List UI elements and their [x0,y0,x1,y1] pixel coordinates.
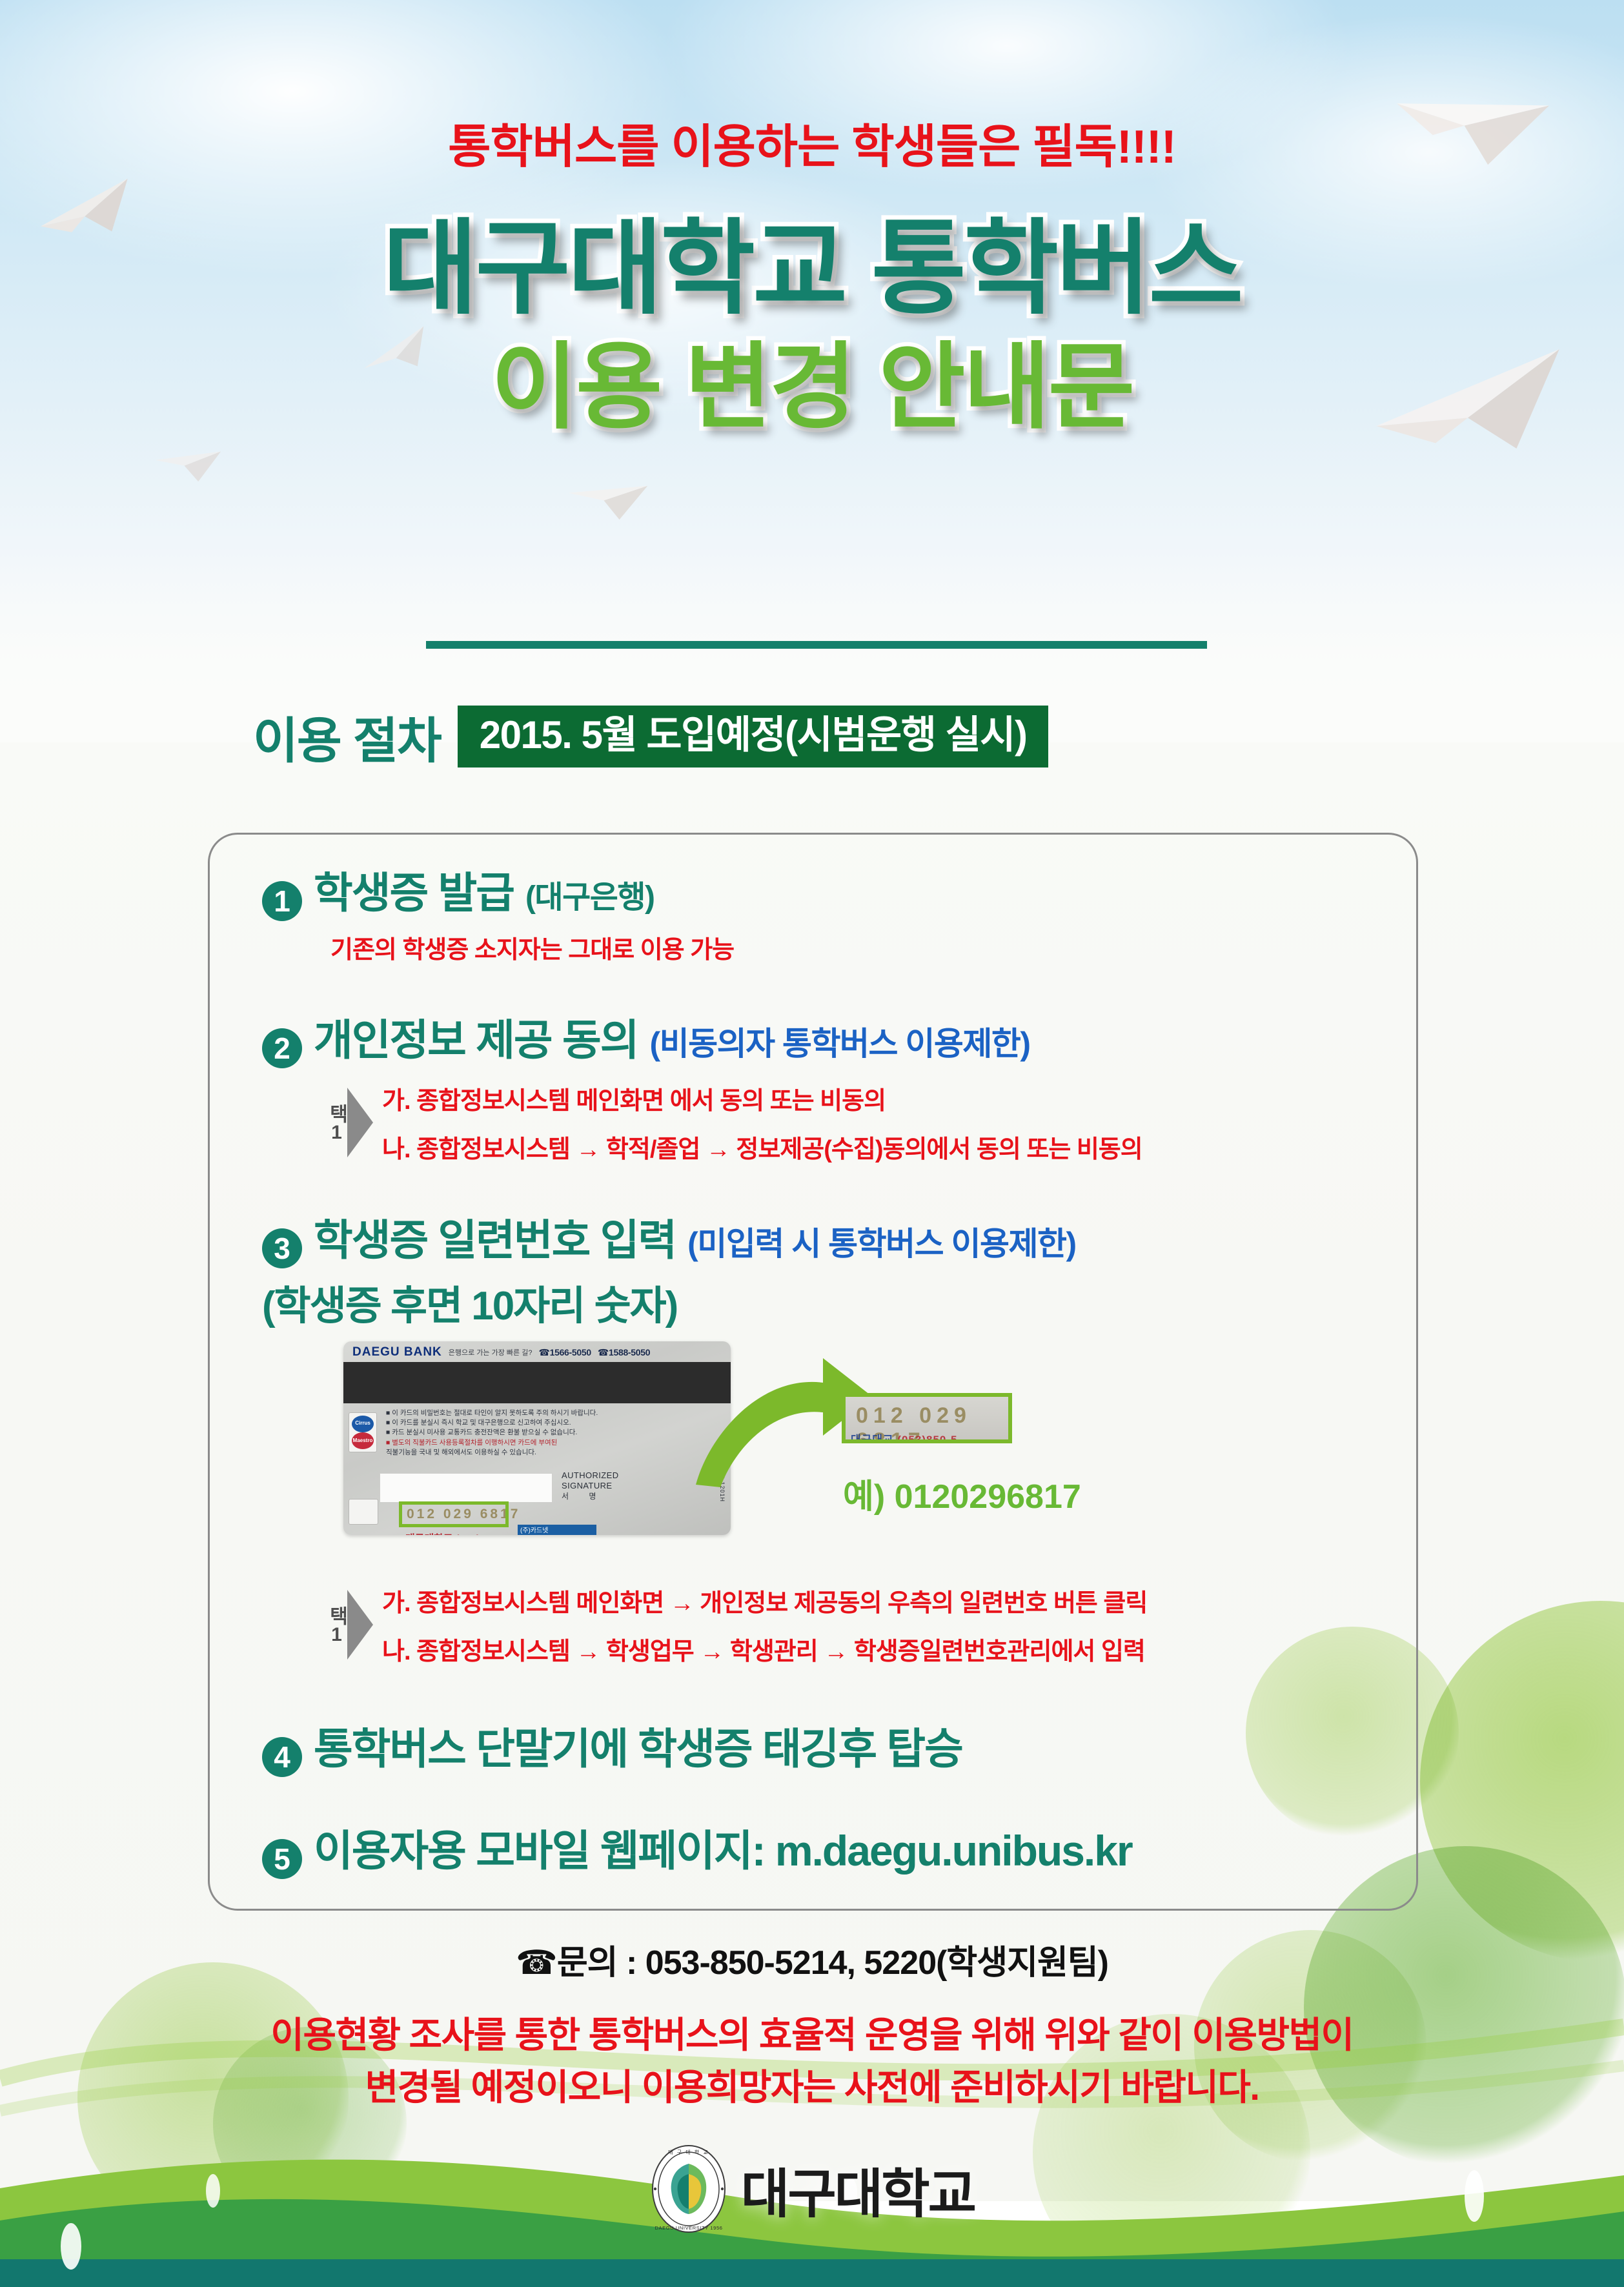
step-2-choose-one: 택1 가. 종합정보시스템 메인화면 에서 동의 또는 비동의 나. 종합정보시… [327,1081,1142,1164]
paper-plane-icon [153,442,221,485]
step-1-title: 학생증 발급 [314,859,514,920]
contact-line: ☎문의 : 053-850-5214, 5220(학생지원팀) [0,1935,1624,1984]
section-header: 이용 절차 2015. 5월 도입예정(시범운행 실시) [253,701,1048,772]
step-4: 4 통학버스 단말기에 학생증 태깅후 탑승 [262,1714,962,1776]
authorized-label: AUTHORIZED [562,1470,619,1481]
card-tel-2: ☎1588-5050 [598,1347,650,1358]
section-schedule-badge: 2015. 5월 도입예정(시범운행 실시) [458,706,1049,767]
cirrus-maestro-logo-icon: Cirrus Maestro [349,1412,377,1452]
step-3-option-a: 가. 종합정보시스템 메인화면 → 개인정보 제공동의 우측의 일련번호 버튼 … [382,1583,1147,1618]
magnetic-stripe [343,1362,731,1403]
step-3-title: 학생증 일련번호 입력 [314,1206,676,1268]
step-5-title: 이용자용 모바일 웹페이지: m.daegu.unibus.kr [314,1816,1132,1878]
step-number-circle: 5 [262,1839,302,1879]
step-1: 1 학생증 발급 (대구은행) 기존의 학생증 소지자는 그대로 이용 가능 [262,859,734,965]
choose-one-marker: 택1 [327,1590,373,1660]
choose-one-marker: 택1 [327,1088,373,1157]
choose-one-label: 택1 [327,1104,346,1142]
card-tel-1: ☎1566-5050 [538,1347,591,1358]
title-divider [426,641,1207,649]
serial-example-text: 예) 0120296817 [843,1469,1081,1518]
triangle-right-icon [347,1088,373,1157]
step-number-circle: 2 [262,1028,302,1068]
university-logo-row: 대 구 대 학 교 DAEGU UNIVERSITY 1956 대구대학교 [0,2143,1624,2235]
poster-title: 대구대학교 통학버스 이용 변경 안내문 [0,213,1624,438]
kardnet-name: (주)카드넷 [520,1527,548,1534]
signature-label: SIGNATURE [562,1481,619,1491]
step-3-subtitle: (학생증 후면 10자리 숫자) [262,1273,1076,1331]
maestro-label: Maestro [352,1438,374,1443]
step-2-options: 가. 종합정보시스템 메인화면 에서 동의 또는 비동의 나. 종합정보시스템 … [382,1081,1142,1164]
serial-highlight-box [399,1501,509,1527]
step-3-option-b: 나. 종합정보시스템 → 학생업무 → 학생관리 → 학생증일련번호관리에서 입… [382,1631,1147,1667]
callout-subtext-right: (053)850-5 [897,1434,957,1443]
notice-line-1: 이용현황 조사를 통한 통학버스의 효율적 운영을 위해 위와 같이 이용방법이 [0,2009,1624,2061]
step-2-heading: 2 개인정보 제공 동의 (비동의자 통학버스 이용제한) [262,1006,1142,1068]
authorized-signature-text: AUTHORIZED SIGNATURE 서 명 [562,1470,619,1501]
step-4-heading: 4 통학버스 단말기에 학생증 태깅후 탑승 [262,1714,962,1776]
student-card-figure: DAEGU BANK 은행으로 가는 가장 빠른 길? ☎1566-5050 ☎… [343,1341,731,1535]
card-body: Cirrus Maestro ■ 이 카드의 비밀번호는 절대로 타인이 알지 … [343,1403,731,1525]
card-tagline: 은행으로 가는 가장 빠른 길? [449,1347,533,1357]
seal-bottom-text: DAEGU UNIVERSITY 1956 [655,2225,722,2231]
section-title: 이용 절차 [253,701,441,772]
card-rule-1: ■ 이 카드의 비밀번호는 절대로 타인이 알지 못하도록 주의 하시기 바랍니… [386,1408,724,1418]
debit-card-logo-icon [349,1499,378,1525]
step-3: 3 학생증 일련번호 입력 (미입력 시 통학버스 이용제한) (학생증 후면 … [262,1206,1076,1331]
step-2: 2 개인정보 제공 동의 (비동의자 통학버스 이용제한) 택1 가. 종합정보… [262,1006,1142,1164]
step-1-note: (대구은행) [525,871,655,917]
triangle-right-icon [347,1590,373,1660]
card-rules: ■ 이 카드의 비밀번호는 절대로 타인이 알지 못하도록 주의 하시기 바랍니… [386,1408,724,1458]
step-5-heading: 5 이용자용 모바일 웹페이지: m.daegu.unibus.kr [262,1816,1132,1878]
title-line-2: 이용 변경 안내문 [0,336,1624,438]
step-3-note: (미입력 시 통학버스 이용제한) [687,1218,1075,1265]
step-2-option-a: 가. 종합정보시스템 메인화면 에서 동의 또는 비동의 [382,1081,1142,1116]
step-1-subtext: 기존의 학생증 소지자는 그대로 이용 가능 [330,930,734,965]
step-3-options: 가. 종합정보시스템 메인화면 → 개인정보 제공동의 우측의 일련번호 버튼 … [382,1583,1147,1667]
step-number-circle: 4 [262,1737,302,1777]
step-number-circle: 1 [262,881,302,921]
card-header: DAEGU BANK 은행으로 가는 가장 빠른 길? ☎1566-5050 ☎… [343,1341,731,1362]
card-rule-5: 직불기능을 국내 및 해외에서도 이용하실 수 있습니다. [386,1448,724,1458]
step-2-option-b: 나. 종합정보시스템 → 학적/졸업 → 정보제공(수집)동의에서 동의 또는 … [382,1129,1142,1164]
serial-zoom-callout: 012 029 6817 대구대교 (053)850-5 [842,1393,1012,1443]
signature-panel [380,1473,553,1503]
callout-subtext-left: 대구대교 [851,1434,894,1443]
notice-block: 이용현황 조사를 통한 통학버스의 효율적 운영을 위해 위와 같이 이용방법이… [0,2009,1624,2113]
card-branch-info: 대구대학교 (053)850-5114 [405,1530,523,1535]
step-number-circle: 3 [262,1228,302,1268]
seal-top-text: 대 구 대 학 교 [668,2149,709,2155]
daegu-bank-logo: DAEGU BANK [352,1345,442,1359]
step-2-note: (비동의자 통학버스 이용제한) [649,1018,1030,1064]
step-4-title: 통학버스 단말기에 학생증 태깅후 탑승 [314,1714,962,1776]
cirrus-label: Cirrus [352,1420,374,1426]
card-rule-3: ■ 카드 분실시 미사용 교통카드 충전잔액은 환불 받으실 수 없습니다. [386,1428,724,1438]
kardnet-badge: (주)카드넷 www.kardnet.com 고객센터 문의 : 080-427… [518,1525,596,1535]
choose-one-label: 택1 [327,1606,346,1644]
callout-subtext: 대구대교 (053)850-5 [851,1430,957,1443]
notice-line-2: 변경될 예정이오니 이용희망자는 사전에 준비하시기 바랍니다. [0,2061,1624,2113]
card-rule-4: ■ 별도의 직불카드 사용등록절차를 이행하시면 카드에 부여된 [386,1438,724,1448]
step-5: 5 이용자용 모바일 웹페이지: m.daegu.unibus.kr [262,1816,1132,1878]
university-name: 대구대학교 [741,2151,975,2228]
step-2-title: 개인정보 제공 동의 [314,1006,638,1068]
bank-card-back: DAEGU BANK 은행으로 가는 가장 빠른 길? ☎1566-5050 ☎… [343,1341,731,1535]
card-rule-2: ■ 이 카드를 분실시 즉시 학교 및 대구은행으로 신고하여 주십시오. [386,1418,724,1428]
step-1-heading: 1 학생증 발급 (대구은행) [262,859,734,920]
title-line-1: 대구대학교 통학버스 [0,213,1624,325]
daegu-university-seal-icon: 대 구 대 학 교 DAEGU UNIVERSITY 1956 [649,2143,728,2235]
kicker-text: 통학버스를 이용하는 학생들은 필독!!!! [0,108,1624,176]
step-3-heading: 3 학생증 일련번호 입력 (미입력 시 통학버스 이용제한) [262,1206,1076,1268]
step-3-choose-one: 택1 가. 종합정보시스템 메인화면 → 개인정보 제공동의 우측의 일련번호 … [327,1583,1147,1667]
signature-label-kr: 서 명 [562,1492,619,1501]
poster-canvas: 통학버스를 이용하는 학생들은 필독!!!! 대구대학교 통학버스 이용 변경 … [0,0,1624,2287]
